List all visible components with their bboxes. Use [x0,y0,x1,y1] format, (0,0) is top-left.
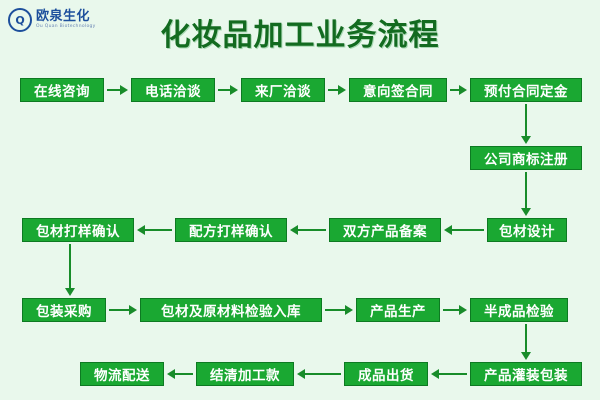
flow-arrow-right [450,84,467,96]
flow-arrow-right [109,304,137,316]
page-title: 化妆品加工业务流程 [0,10,600,54]
flow-arrow-right [328,84,346,96]
flow-node: 在线咨询 [20,78,104,102]
flow-node: 半成品检验 [470,298,568,322]
flow-arrow-right [218,84,238,96]
flow-node: 产品灌装包装 [470,362,582,386]
flow-arrow-left [431,368,467,380]
flow-arrow-left [167,368,193,380]
flow-node: 配方打样确认 [175,218,287,242]
flow-node: 产品生产 [356,298,440,322]
flow-arrow-right [107,84,128,96]
flow-node: 结清加工款 [196,362,294,386]
flow-node: 包装采购 [22,298,106,322]
flow-arrow-left [444,224,484,236]
flow-node: 公司商标注册 [470,146,582,170]
flow-node: 成品出货 [344,362,428,386]
flow-node: 双方产品备案 [329,218,441,242]
flow-arrow-right [325,304,353,316]
flow-arrow-down [520,104,532,144]
flow-node: 物流配送 [80,362,164,386]
flow-node: 包材设计 [487,218,567,242]
flow-arrow-down [520,172,532,216]
flow-node: 意向签合同 [349,78,447,102]
flow-node: 电话洽谈 [131,78,215,102]
flow-arrow-left [290,224,326,236]
flow-arrow-left [297,368,341,380]
flow-arrow-right [443,304,467,316]
flow-arrow-down [520,324,532,360]
flow-node: 预付合同定金 [470,78,582,102]
flow-arrow-left [137,224,172,236]
flow-arrow-down [64,244,76,296]
flow-node: 来厂洽谈 [241,78,325,102]
flow-node: 包材及原材料检验入库 [140,298,322,322]
flow-node: 包材打样确认 [22,218,134,242]
flowchart-canvas: Q 欧泉生化 Ou Quan Biotechnology 化妆品加工业务流程 在… [0,0,600,400]
